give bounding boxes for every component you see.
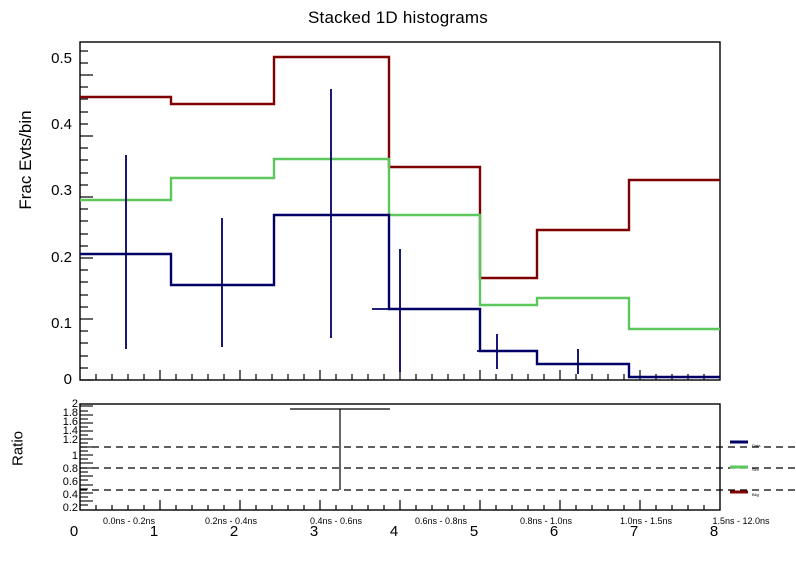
root-canvas: Stacked 1D histograms Frac Evts/bin Rati… [0,0,796,572]
main-y-ticks [80,51,93,380]
legend-swatches [730,442,748,492]
plot-svg [0,0,796,572]
ratio-panel-frame [80,404,720,510]
ratio-data-point [290,409,390,490]
ratio-x-ticks [96,500,704,510]
ratio-reference-lines [80,447,796,490]
navy-error-bars [96,89,596,374]
maroon-series-step [80,57,720,278]
